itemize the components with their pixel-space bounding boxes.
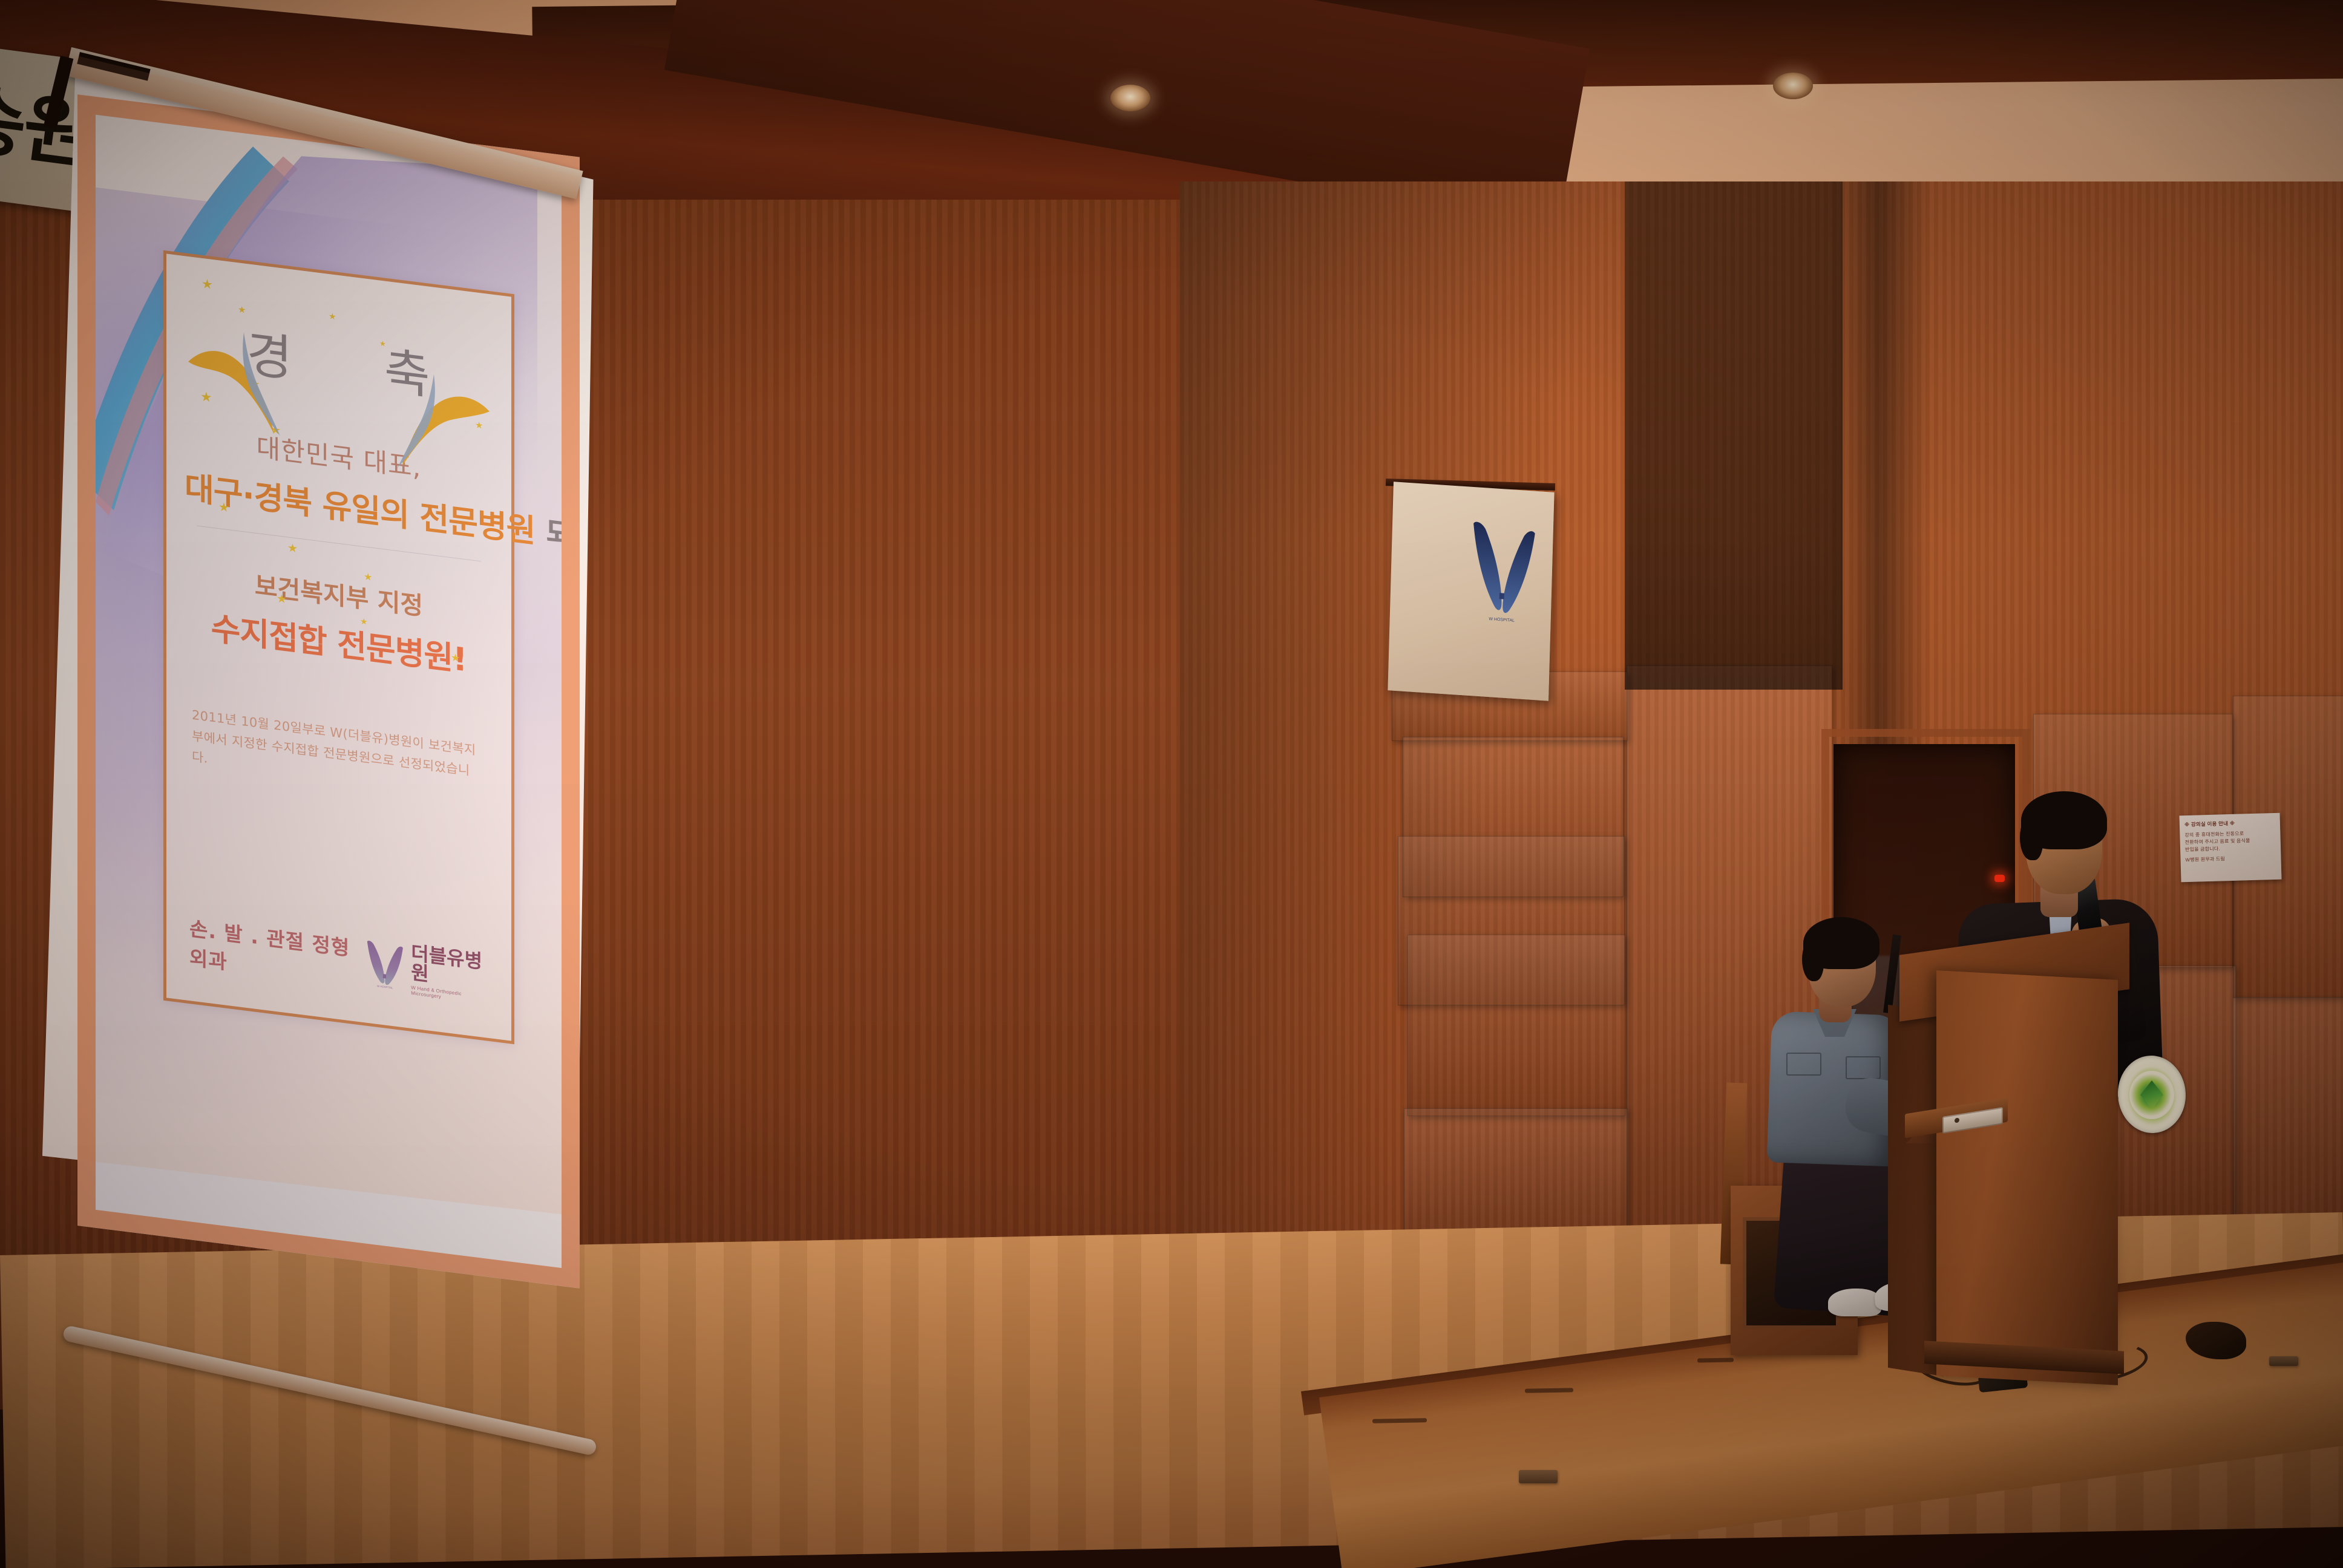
podium-left-face <box>1888 1005 1944 1377</box>
wall-panel <box>1407 935 1625 1116</box>
floor-cable-slot <box>1525 1388 1573 1393</box>
headline-gray-part: 되다! <box>535 514 562 561</box>
shooting-star-icon <box>392 362 494 483</box>
w-logo-icon: W HOSPITAL <box>362 935 408 996</box>
downlight-icon <box>1110 85 1150 111</box>
slide-card-content: ★ ★ ★ ★ ★ ★ ★ ★ ★ ★ ★ ★ ★ ★ ★ <box>166 253 511 1040</box>
w-logo-icon: W HOSPITAL <box>1462 518 1544 632</box>
slide-footer: 손. 발 . 관절 정형외과 <box>166 909 511 1010</box>
auditorium-scene: ※ 강의실 이용 안내 ※ 강의 중 휴대전화는 진동으로 전환하여 주시고 음… <box>0 0 2343 1568</box>
star-icon: ★ <box>238 305 246 315</box>
shirt-pocket <box>1846 1056 1881 1079</box>
podium-front-face <box>1936 970 2118 1385</box>
star-icon: ★ <box>202 278 213 292</box>
banner-logo-caption: W HOSPITAL <box>1489 617 1515 623</box>
sneaker-icon <box>1828 1289 1881 1316</box>
floor-access-plate <box>1519 1470 1558 1483</box>
slide-card: ★ ★ ★ ★ ★ ★ ★ ★ ★ ★ ★ ★ ★ ★ ★ <box>163 250 514 1045</box>
slide-brand-lockup: W HOSPITAL 더블유병원 W Hand & Orthopedic Mic… <box>362 935 488 1007</box>
brand-text-block: 더블유병원 W Hand & Orthopedic Microsurgery <box>411 942 488 1005</box>
hanging-banner: W HOSPITAL 식 <box>1388 482 1554 701</box>
slide-logo-caption: W HOSPITAL <box>377 984 393 989</box>
slide-department: 손. 발 . 관절 정형외과 <box>189 912 362 992</box>
star-icon: ★ <box>379 339 386 347</box>
projection-screen: ★ ★ ★ ★ ★ ★ ★ ★ ★ ★ ★ ★ ★ ★ ★ <box>0 36 641 1240</box>
star-icon: ★ <box>287 542 298 555</box>
star-icon: ★ <box>364 572 372 583</box>
shooting-star-icon <box>183 316 292 445</box>
downlight-icon <box>1773 73 1813 99</box>
star-icon: ★ <box>451 652 460 664</box>
slide-body-text: 2011년 10월 20일부로 W(더블유)병원이 보건복지부에서 지정한 수지… <box>185 704 493 805</box>
star-icon: ★ <box>329 312 336 321</box>
star-icon: ★ <box>360 616 368 626</box>
star-icon: ★ <box>218 501 229 514</box>
brand-name: 더블유병원 <box>411 942 488 991</box>
star-icon: ★ <box>277 593 287 606</box>
floor-cable-slot <box>1697 1357 1734 1362</box>
presentation-slide: ★ ★ ★ ★ ★ ★ ★ ★ ★ ★ ★ ★ ★ ★ ★ <box>77 94 580 1289</box>
seated-hair-side <box>1802 938 1824 981</box>
floor-access-plate <box>2269 1356 2298 1366</box>
wall-shadow-band <box>1625 181 1843 690</box>
speaker-hair-side <box>2020 814 2043 860</box>
shirt-pocket <box>1786 1053 1821 1076</box>
slide-background: ★ ★ ★ ★ ★ ★ ★ ★ ★ ★ ★ ★ ★ ★ ★ <box>96 115 562 1268</box>
